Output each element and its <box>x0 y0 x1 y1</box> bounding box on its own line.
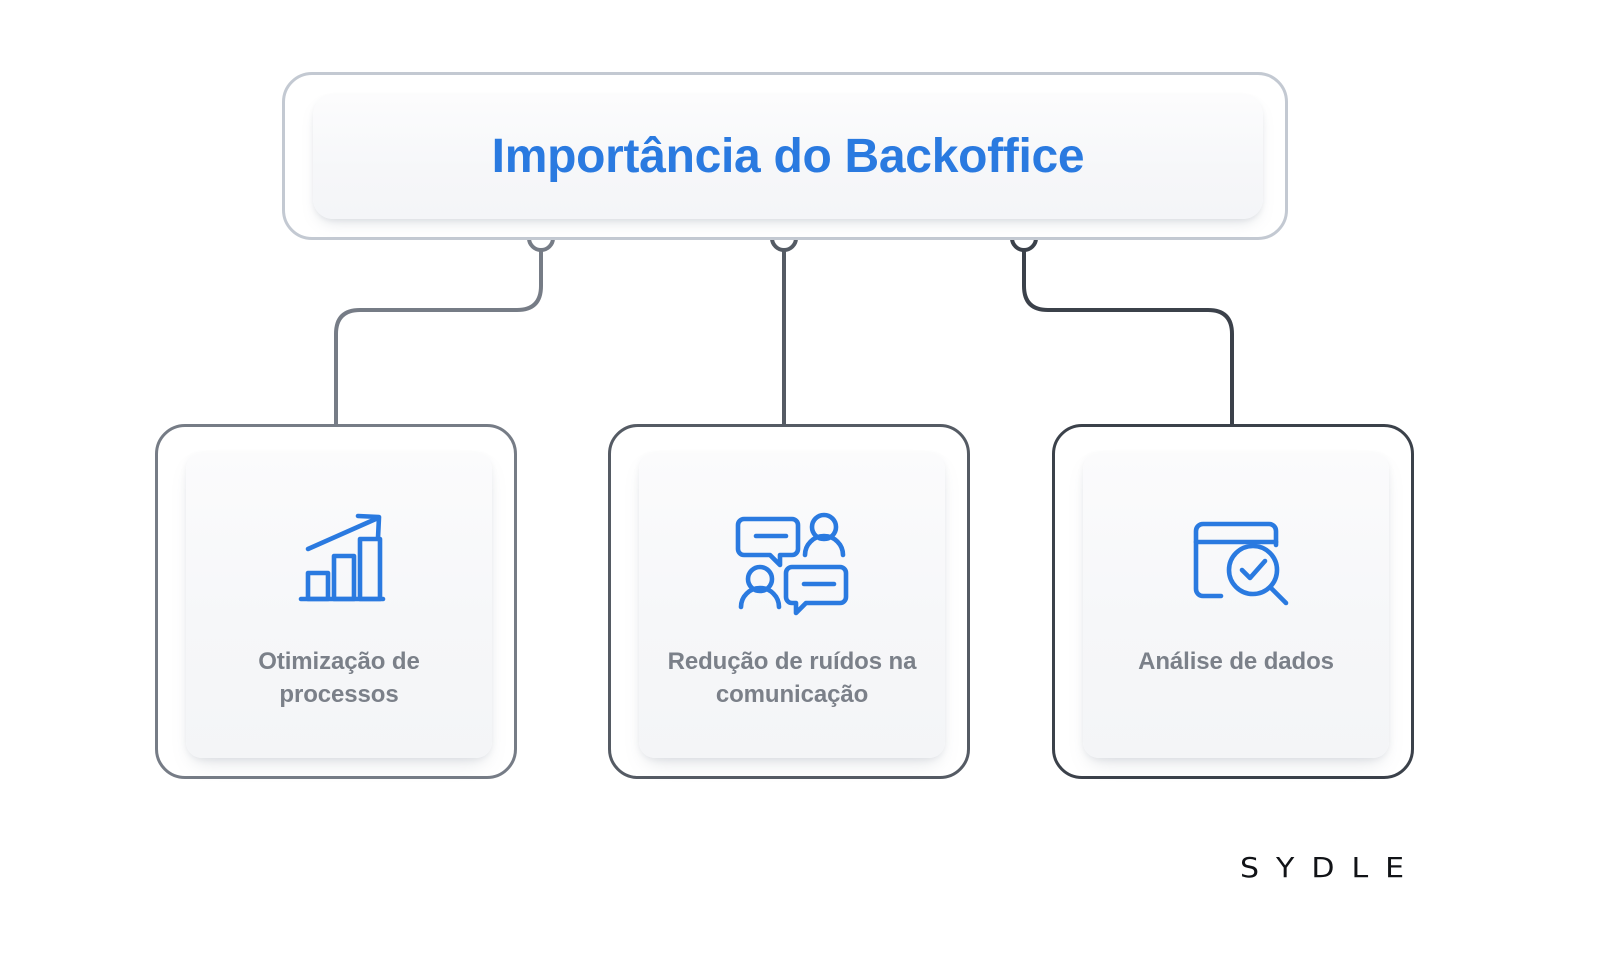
card-label: Análise de dados <box>1124 645 1348 678</box>
card-inner-panel: Redução de ruídos na comunicação <box>639 453 945 758</box>
card-label: Otimização de processos <box>186 645 492 711</box>
header-card: Importância do Backoffice <box>282 72 1288 240</box>
window-magnifier-check-icon <box>1176 501 1296 621</box>
people-chat-bubbles-icon <box>732 501 852 621</box>
sydle-logo: SYDLE <box>1240 852 1421 884</box>
page-title: Importância do Backoffice <box>492 133 1085 181</box>
card-inner-panel: Análise de dados <box>1083 453 1389 758</box>
card-otimizacao-de-processos[interactable]: Otimização de processos <box>155 424 517 779</box>
card-reducao-de-ruidos-na-comunicacao[interactable]: Redução de ruídos na comunicação <box>608 424 970 779</box>
card-analise-de-dados[interactable]: Análise de dados <box>1052 424 1414 779</box>
card-label: Redução de ruídos na comunicação <box>639 645 945 711</box>
card-inner-panel: Otimização de processos <box>186 453 492 758</box>
connector-path-right <box>1024 252 1232 424</box>
diagram-canvas: Importância do Backoffice Otimização de … <box>0 0 1600 980</box>
bar-chart-growth-arrow-icon <box>279 501 399 621</box>
connector-path-left <box>336 252 541 424</box>
header-inner-panel: Importância do Backoffice <box>313 95 1263 219</box>
